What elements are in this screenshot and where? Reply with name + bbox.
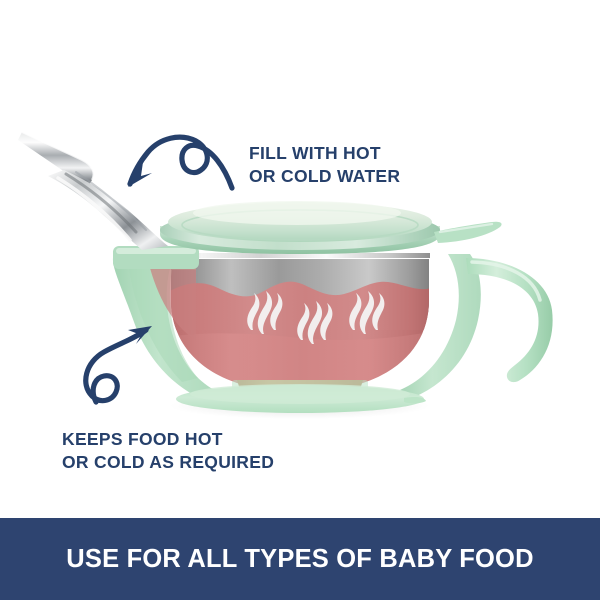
arrow-top-curly	[130, 137, 232, 188]
spout-lip-highlight	[116, 248, 196, 254]
illustration-area: FILL WITH HOT OR COLD WATER KEEPS FOOD H…	[0, 0, 600, 518]
bottom-banner: USE FOR ALL TYPES OF BABY FOOD	[0, 518, 600, 600]
banner-text: USE FOR ALL TYPES OF BABY FOOD	[66, 545, 533, 574]
suction-base-top	[190, 384, 410, 404]
product-infographic: FILL WITH HOT OR COLD WATER KEEPS FOOD H…	[0, 0, 600, 600]
annotation-bottom-line2: OR COLD AS REQUIRED	[62, 451, 274, 474]
arrow-bottom-curly	[86, 330, 146, 402]
annotation-top-line2: OR COLD WATER	[249, 165, 400, 188]
annotation-bottom-line1: KEEPS FOOD HOT	[62, 428, 274, 451]
lid-highlight	[193, 201, 401, 225]
annotation-fill-with-water: FILL WITH HOT OR COLD WATER	[249, 142, 400, 189]
annotation-top-line1: FILL WITH HOT	[249, 142, 400, 165]
annotation-keeps-food-hot: KEEPS FOOD HOT OR COLD AS REQUIRED	[62, 428, 274, 475]
